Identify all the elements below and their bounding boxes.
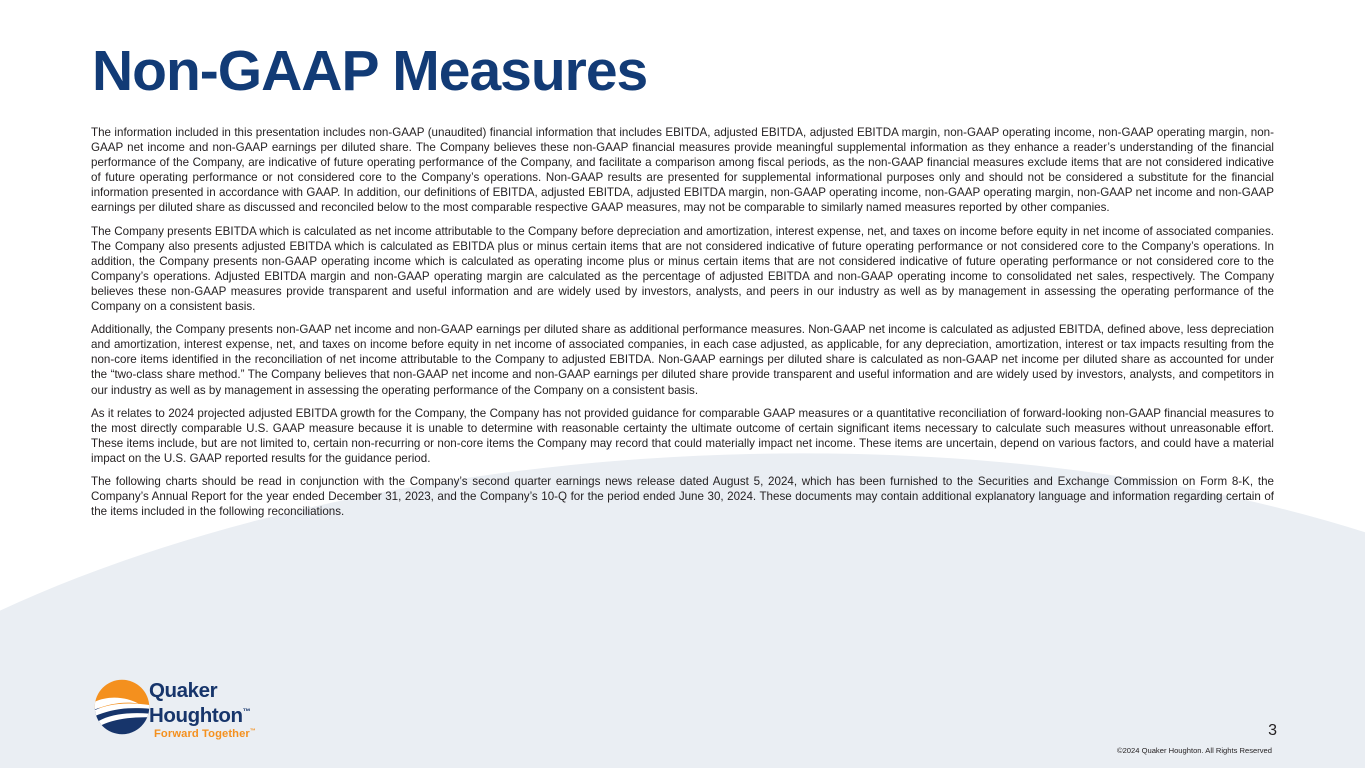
logo-tagline-trademark: ™ xyxy=(250,728,256,734)
decorative-footer-band xyxy=(0,762,1365,768)
page-number: 3 xyxy=(1268,722,1277,740)
logo-word-line1: Quaker xyxy=(149,680,277,701)
logo-word-line2-wrap: Houghton™ xyxy=(149,701,277,726)
logo-tagline: Forward Together™ xyxy=(154,728,277,740)
paragraph-4: As it relates to 2024 projected adjusted… xyxy=(91,406,1274,466)
slide-canvas: Non-GAAP Measures The information includ… xyxy=(0,0,1365,768)
logo-tagline-text: Forward Together xyxy=(154,728,250,740)
logo-trademark-symbol: ™ xyxy=(243,707,251,716)
page-title: Non-GAAP Measures xyxy=(92,42,647,102)
paragraph-3: Additionally, the Company presents non-G… xyxy=(91,322,1274,397)
paragraph-1: The information included in this present… xyxy=(91,125,1274,216)
quaker-houghton-logo: Quaker Houghton™ Forward Together™ xyxy=(93,678,273,740)
paragraph-5: The following charts should be read in c… xyxy=(91,474,1274,519)
logo-word-line2: Houghton xyxy=(149,704,243,727)
logo-wordmark: Quaker Houghton™ Forward Together™ xyxy=(149,680,277,740)
copyright-notice: ©2024 Quaker Houghton. All Rights Reserv… xyxy=(1117,746,1272,755)
body-copy-block: The information included in this present… xyxy=(91,125,1274,519)
quaker-houghton-logo-mark-icon xyxy=(93,678,151,736)
paragraph-2: The Company presents EBITDA which is cal… xyxy=(91,224,1274,315)
